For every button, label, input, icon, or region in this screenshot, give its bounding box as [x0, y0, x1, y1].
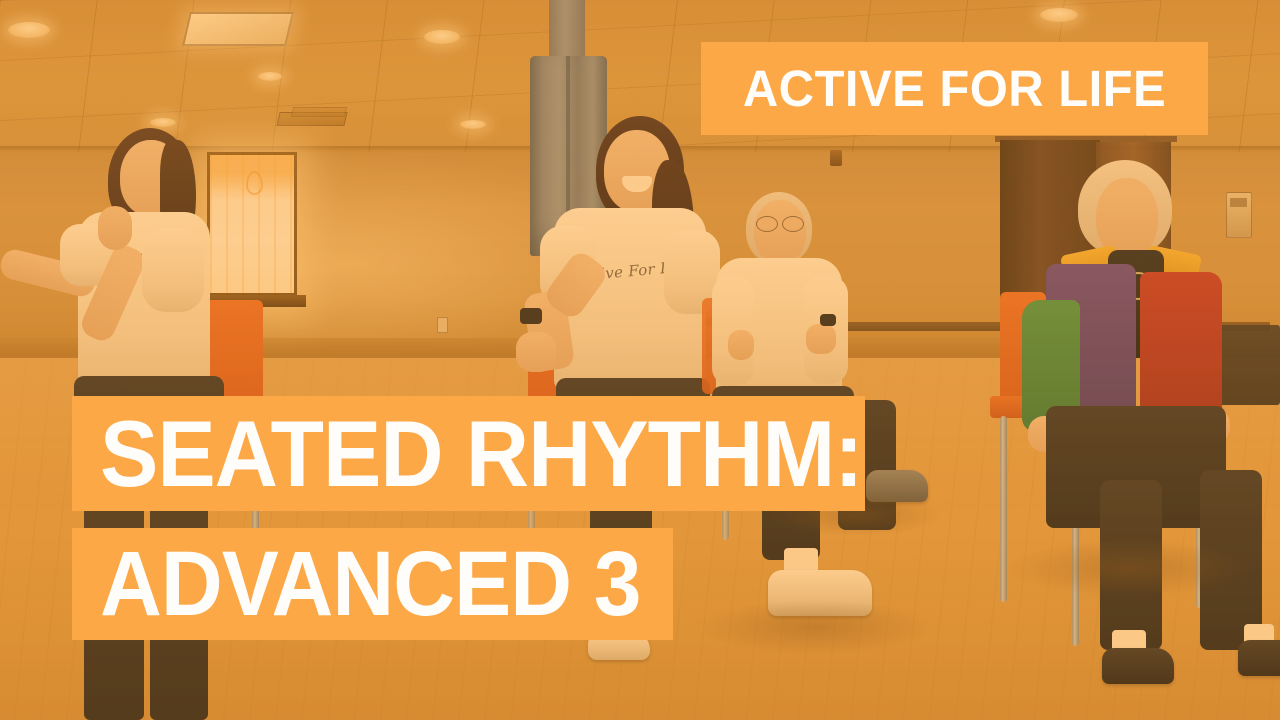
hand-left — [728, 330, 754, 360]
floor-shadow — [700, 600, 930, 654]
floor-shadow — [1010, 540, 1250, 596]
downlight-icon-3 — [258, 72, 282, 81]
chair-leg — [1000, 416, 1007, 602]
wall-control-panel — [1226, 192, 1252, 238]
fluorescent-troffer-icon — [182, 12, 294, 46]
air-vent-icon-2 — [291, 107, 347, 117]
downlight-icon-2 — [424, 30, 460, 44]
title-line-2-label: ADVANCED 3 — [100, 538, 641, 630]
dress-shoe-right — [1238, 640, 1280, 676]
brand-banner: ACTIVE FOR LIFE — [701, 42, 1208, 135]
title-line-2: ADVANCED 3 — [72, 528, 673, 640]
downlight-icon-4 — [150, 118, 176, 127]
downlight-icon-6 — [1040, 8, 1078, 22]
title-line-1: SEATED RHYTHM: — [72, 396, 865, 511]
brand-banner-label: ACTIVE FOR LIFE — [743, 59, 1166, 118]
window-curtain — [210, 155, 294, 293]
hand-right — [98, 206, 132, 250]
wall-sign-icon — [830, 150, 842, 166]
glasses-icon-2 — [782, 216, 804, 232]
jacket-panel-red — [1140, 272, 1222, 420]
studio-window — [207, 152, 297, 307]
downlight-icon-5 — [460, 120, 486, 129]
curtain-motif — [246, 171, 263, 195]
head — [754, 200, 806, 264]
hand-left — [516, 332, 556, 372]
wrist-watch — [820, 314, 836, 326]
dress-shoe-left — [1102, 648, 1174, 684]
wall-outlet — [437, 317, 448, 333]
control-panel-display — [1230, 198, 1247, 207]
video-frame: Active For Life Active For Life — [0, 0, 1280, 720]
downlight-icon-1 — [8, 22, 50, 38]
hand-right — [806, 324, 836, 354]
title-line-1-label: SEATED RHYTHM: — [100, 407, 862, 501]
sleeve-right — [142, 228, 204, 312]
glasses-icon — [756, 216, 778, 232]
wrist-watch — [520, 308, 542, 324]
